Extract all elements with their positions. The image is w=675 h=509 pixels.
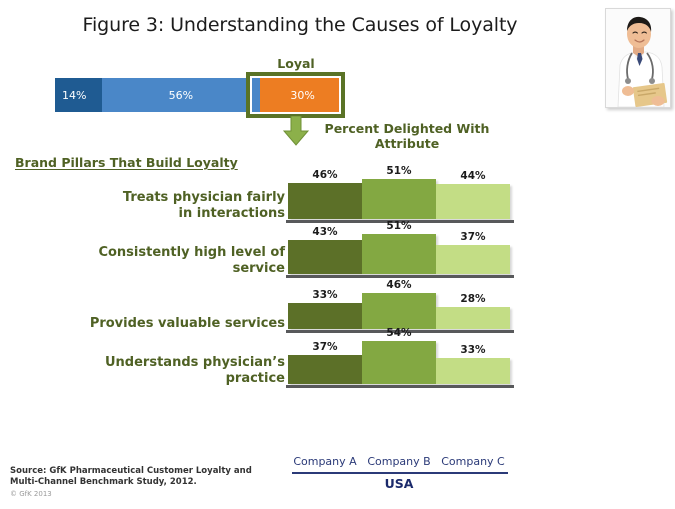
- chart-bar-value: 46%: [288, 169, 362, 181]
- chart-row-label-line2: practice: [226, 371, 285, 386]
- chart-legend: Company ACompany BCompany C: [288, 455, 510, 468]
- loyalty-segment-3: 30%: [260, 78, 345, 112]
- chart-bar-rect[interactable]: [288, 355, 362, 384]
- chart-row-label-line2: service: [233, 261, 285, 276]
- chart-row-label: Treats physician fairlyin interactions: [25, 190, 285, 222]
- chart-row: Understands physician’spractice37%54%33%: [0, 333, 675, 388]
- chart-bar[interactable]: 28%: [436, 277, 510, 329]
- chart-bar-rect[interactable]: [362, 293, 436, 329]
- chart-bar-rect[interactable]: [436, 245, 510, 274]
- chart-row-label-line2: in interactions: [179, 206, 285, 221]
- doctor-photo-illustration: [606, 9, 670, 107]
- chart-bar-value: 43%: [288, 226, 362, 238]
- chart-bar-value: 54%: [362, 327, 436, 339]
- loyal-callout-label: Loyal: [246, 56, 346, 71]
- chart-bar-rect[interactable]: [362, 341, 436, 384]
- chart-bar-value: 28%: [436, 293, 510, 305]
- chart-bar-rect[interactable]: [436, 358, 510, 384]
- loyalty-segment-value: 30%: [290, 89, 314, 102]
- source-note: Source: GfK Pharmaceutical Customer Loya…: [10, 466, 260, 488]
- legend-rule: [292, 472, 508, 474]
- chart-bar[interactable]: 51%: [362, 222, 436, 274]
- chart-bar[interactable]: 54%: [362, 332, 436, 384]
- chart-row-label: Understands physician’spractice: [25, 355, 285, 387]
- down-arrow-icon: [280, 116, 312, 146]
- chart-bar-value: 51%: [362, 220, 436, 232]
- loyalty-stacked-bar: 14%56%30%: [55, 78, 345, 112]
- legend-item-company-b: Company B: [362, 455, 436, 468]
- chart-bar[interactable]: 46%: [288, 167, 362, 219]
- chart-bar[interactable]: 37%: [288, 332, 362, 384]
- doctor-photo: [605, 8, 671, 108]
- chart-bar-group: 46%51%44%: [288, 167, 510, 219]
- chart-bar[interactable]: 44%: [436, 167, 510, 219]
- chart-bar-group: 33%46%28%: [288, 277, 510, 329]
- chart-row: Consistently high level ofservice43%51%3…: [0, 223, 675, 278]
- chart-row-label: Consistently high level ofservice: [25, 245, 285, 277]
- chart-bar-rect[interactable]: [362, 179, 436, 219]
- copyright-note: © GfK 2013: [10, 490, 52, 498]
- chart-bar-rect[interactable]: [288, 303, 362, 329]
- page-title: Figure 3: Understanding the Causes of Lo…: [0, 14, 600, 36]
- chart-bar-rect[interactable]: [362, 234, 436, 274]
- chart-bar-group: 37%54%33%: [288, 332, 510, 384]
- loyalty-segment-value: 14%: [62, 89, 86, 102]
- attribute-heading: Percent Delighted With Attribute: [318, 121, 496, 151]
- chart-bar[interactable]: 43%: [288, 222, 362, 274]
- chart-bar-group: 43%51%37%: [288, 222, 510, 274]
- loyalty-segment-value: 56%: [169, 89, 193, 102]
- chart-bar[interactable]: 46%: [362, 277, 436, 329]
- chart-bar-value: 51%: [362, 165, 436, 177]
- chart-bar-value: 37%: [288, 341, 362, 353]
- chart-bar-rect[interactable]: [288, 183, 362, 219]
- chart-row: Treats physician fairlyin interactions46…: [0, 168, 675, 223]
- legend-region-label: USA: [288, 476, 510, 491]
- chart-bar-rect[interactable]: [436, 184, 510, 219]
- chart-bar-rect[interactable]: [436, 307, 510, 329]
- chart-bar[interactable]: 51%: [362, 167, 436, 219]
- chart-bar-value: 33%: [288, 289, 362, 301]
- legend-item-company-c: Company C: [436, 455, 510, 468]
- chart-bar-rect[interactable]: [288, 240, 362, 274]
- chart-bar[interactable]: 33%: [288, 277, 362, 329]
- chart-axis-line: [286, 385, 514, 388]
- chart-row: Provides valuable services33%46%28%: [0, 278, 675, 333]
- loyalty-segment-1: 14%: [55, 78, 102, 112]
- loyalty-segment-2: 56%: [102, 78, 260, 112]
- chart-bar-value: 44%: [436, 170, 510, 182]
- delighted-bar-chart: Treats physician fairlyin interactions46…: [0, 168, 675, 388]
- chart-bar-value: 46%: [362, 279, 436, 291]
- chart-row-label: Provides valuable services: [25, 316, 285, 332]
- chart-bar[interactable]: 33%: [436, 332, 510, 384]
- chart-bar[interactable]: 37%: [436, 222, 510, 274]
- chart-bar-value: 37%: [436, 231, 510, 243]
- legend-item-company-a: Company A: [288, 455, 362, 468]
- chart-bar-value: 33%: [436, 344, 510, 356]
